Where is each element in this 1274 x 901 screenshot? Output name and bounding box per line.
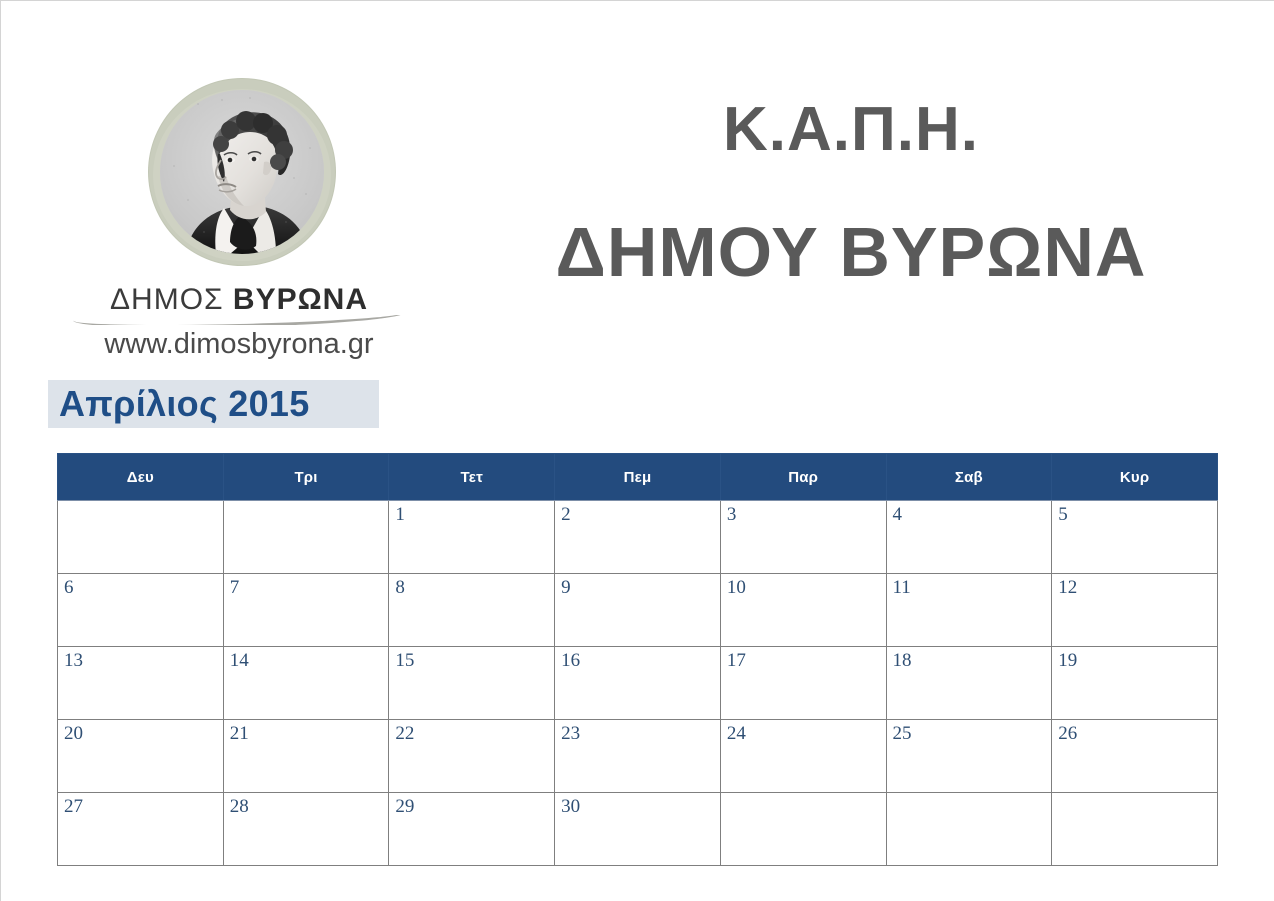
calendar-day-cell[interactable]: 6 [58, 574, 224, 647]
month-year-label: Απρίλιος 2015 [59, 382, 310, 426]
day-number: 9 [561, 578, 571, 597]
day-number: 15 [395, 651, 414, 670]
logo-name-byrona: ΒΥΡΩΝΑ [233, 283, 368, 316]
calendar-day-cell[interactable]: 30 [555, 793, 721, 866]
weekday-header-tue: Τρι [223, 454, 389, 501]
calendar-day-cell[interactable] [1052, 793, 1218, 866]
day-number: 23 [561, 724, 580, 743]
day-number: 13 [64, 651, 83, 670]
calendar-day-cell[interactable]: 21 [223, 720, 389, 793]
calendar-day-cell[interactable]: 2 [555, 501, 721, 574]
calendar-day-cell[interactable]: 17 [720, 647, 886, 720]
day-number: 20 [64, 724, 83, 743]
calendar-day-cell[interactable]: 14 [223, 647, 389, 720]
calendar-day-cell[interactable]: 9 [555, 574, 721, 647]
calendar-day-cell[interactable]: 23 [555, 720, 721, 793]
day-number: 22 [395, 724, 414, 743]
calendar-day-cell[interactable]: 25 [886, 720, 1052, 793]
calendar-day-cell[interactable]: 29 [389, 793, 555, 866]
calendar-day-cell[interactable]: 26 [1052, 720, 1218, 793]
day-number: 28 [230, 797, 249, 816]
title-line-dimou-byrona: ΔΗΜΟΥ ΒΥΡΩΝΑ [471, 216, 1231, 290]
calendar-day-cell[interactable]: 13 [58, 647, 224, 720]
calendar-table: Δευ Τρι Τετ Πεμ Παρ Σαβ Κυρ 1 2 3 4 5 6 [57, 453, 1218, 866]
calendar-day-cell[interactable] [886, 793, 1052, 866]
calendar-day-cell[interactable]: 16 [555, 647, 721, 720]
calendar-day-cell[interactable]: 1 [389, 501, 555, 574]
page-title: Κ.Α.Π.Η. ΔΗΜΟΥ ΒΥΡΩΝΑ [471, 97, 1231, 290]
calendar-day-cell[interactable]: 4 [886, 501, 1052, 574]
calendar-week-row: 6 7 8 9 10 11 12 [58, 574, 1218, 647]
calendar-day-cell[interactable]: 10 [720, 574, 886, 647]
day-number: 14 [230, 651, 249, 670]
calendar-day-cell[interactable] [223, 501, 389, 574]
day-number: 16 [561, 651, 580, 670]
day-number: 11 [893, 578, 911, 597]
calendar-day-cell[interactable]: 7 [223, 574, 389, 647]
day-number: 27 [64, 797, 83, 816]
weekday-header-fri: Παρ [720, 454, 886, 501]
calendar-day-cell[interactable]: 28 [223, 793, 389, 866]
day-number: 4 [893, 505, 903, 524]
lord-byron-portrait-icon [160, 90, 324, 254]
calendar-day-cell[interactable]: 22 [389, 720, 555, 793]
day-number: 29 [395, 797, 414, 816]
logo-portrait-frame [149, 79, 335, 265]
calendar-day-cell[interactable]: 24 [720, 720, 886, 793]
day-number: 26 [1058, 724, 1077, 743]
calendar-day-cell[interactable]: 12 [1052, 574, 1218, 647]
day-number: 12 [1058, 578, 1077, 597]
day-number: 19 [1058, 651, 1077, 670]
calendar-day-cell[interactable]: 18 [886, 647, 1052, 720]
day-number: 21 [230, 724, 249, 743]
day-number: 6 [64, 578, 74, 597]
weekday-header-wed: Τετ [389, 454, 555, 501]
day-number: 5 [1058, 505, 1068, 524]
day-number: 25 [893, 724, 912, 743]
calendar-day-cell[interactable]: 3 [720, 501, 886, 574]
page-header: ΔΗΜΟΣ ΒΥΡΩΝΑ www.dimosbyrona.gr Κ.Α.Π.Η.… [1, 1, 1274, 371]
calendar-day-cell[interactable]: 27 [58, 793, 224, 866]
day-number: 8 [395, 578, 405, 597]
logo-website-url: www.dimosbyrona.gr [59, 328, 419, 361]
calendar-page: ΔΗΜΟΣ ΒΥΡΩΝΑ www.dimosbyrona.gr Κ.Α.Π.Η.… [0, 0, 1274, 901]
logo-municipality-name: ΔΗΜΟΣ ΒΥΡΩΝΑ [59, 283, 419, 317]
day-number: 24 [727, 724, 746, 743]
weekday-header-thu: Πεμ [555, 454, 721, 501]
day-number: 18 [893, 651, 912, 670]
calendar-week-row: 27 28 29 30 [58, 793, 1218, 866]
calendar-day-cell[interactable]: 8 [389, 574, 555, 647]
day-number: 3 [727, 505, 737, 524]
calendar-day-cell[interactable]: 11 [886, 574, 1052, 647]
day-number: 2 [561, 505, 571, 524]
municipality-logo: ΔΗΜΟΣ ΒΥΡΩΝΑ www.dimosbyrona.gr [59, 79, 419, 349]
day-number: 17 [727, 651, 746, 670]
day-number: 30 [561, 797, 580, 816]
calendar-week-row: 1 2 3 4 5 [58, 501, 1218, 574]
day-number: 1 [395, 505, 405, 524]
calendar-header-row: Δευ Τρι Τετ Πεμ Παρ Σαβ Κυρ [58, 454, 1218, 501]
calendar-week-row: 20 21 22 23 24 25 26 [58, 720, 1218, 793]
calendar-day-cell[interactable]: 19 [1052, 647, 1218, 720]
weekday-header-sun: Κυρ [1052, 454, 1218, 501]
calendar-day-cell[interactable]: 20 [58, 720, 224, 793]
logo-underline-swoosh [69, 315, 409, 325]
weekday-header-mon: Δευ [58, 454, 224, 501]
calendar-day-cell[interactable] [720, 793, 886, 866]
day-number: 7 [230, 578, 240, 597]
calendar-day-cell[interactable] [58, 501, 224, 574]
day-number: 10 [727, 578, 746, 597]
calendar-week-row: 13 14 15 16 17 18 19 [58, 647, 1218, 720]
weekday-header-sat: Σαβ [886, 454, 1052, 501]
logo-name-dimos: ΔΗΜΟΣ [110, 283, 224, 316]
calendar-day-cell[interactable]: 5 [1052, 501, 1218, 574]
title-line-kaph: Κ.Α.Π.Η. [471, 97, 1231, 162]
calendar-day-cell[interactable]: 15 [389, 647, 555, 720]
